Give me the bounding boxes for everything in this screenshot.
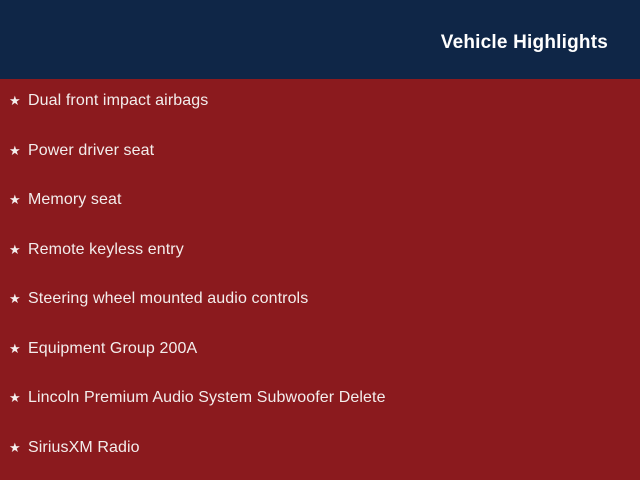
list-item: ★ Dual front impact airbags	[0, 93, 640, 143]
list-item: ★ Memory seat	[0, 192, 640, 242]
feature-label: Equipment Group 200A	[28, 341, 197, 357]
list-item: ★ Remote keyless entry	[0, 242, 640, 292]
list-item: ★ SiriusXM Radio	[0, 440, 640, 480]
star-bullet-icon: ★	[9, 144, 28, 157]
list-item: ★ Lincoln Premium Audio System Subwoofer…	[0, 390, 640, 440]
feature-label: Lincoln Premium Audio System Subwoofer D…	[28, 390, 386, 406]
star-bullet-icon: ★	[9, 342, 28, 355]
feature-label: Power driver seat	[28, 143, 154, 159]
star-bullet-icon: ★	[9, 441, 28, 454]
list-item: ★ Power driver seat	[0, 143, 640, 193]
list-item: ★ Steering wheel mounted audio controls	[0, 291, 640, 341]
feature-label: SiriusXM Radio	[28, 440, 140, 456]
star-bullet-icon: ★	[9, 193, 28, 206]
header-band: Vehicle Highlights	[0, 0, 640, 79]
feature-label: Memory seat	[28, 192, 122, 208]
highlights-panel: ★ Dual front impact airbags ★ Power driv…	[0, 79, 640, 480]
page-title: Vehicle Highlights	[441, 33, 608, 52]
vehicle-highlights-slide: Vehicle Highlights ★ Dual front impact a…	[0, 0, 640, 480]
feature-label: Remote keyless entry	[28, 242, 184, 258]
star-bullet-icon: ★	[9, 243, 28, 256]
star-bullet-icon: ★	[9, 292, 28, 305]
star-bullet-icon: ★	[9, 94, 28, 107]
star-bullet-icon: ★	[9, 391, 28, 404]
feature-label: Dual front impact airbags	[28, 93, 208, 109]
list-item: ★ Equipment Group 200A	[0, 341, 640, 391]
feature-label: Steering wheel mounted audio controls	[28, 291, 308, 307]
feature-list: ★ Dual front impact airbags ★ Power driv…	[0, 93, 640, 480]
